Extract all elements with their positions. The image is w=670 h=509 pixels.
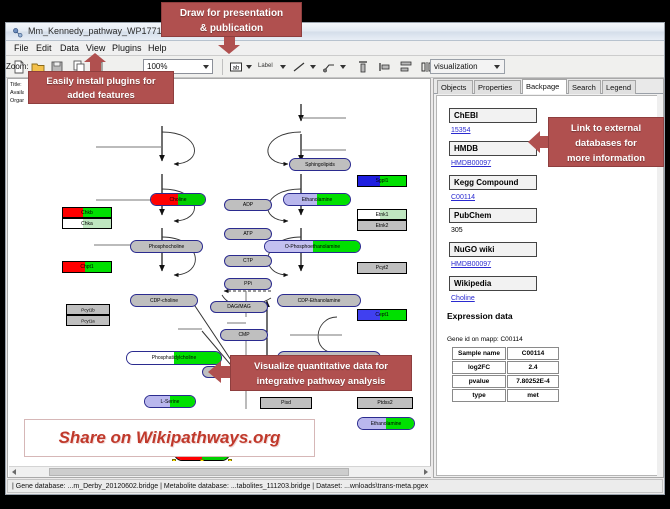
cell-val-pvalue: 7.80252E-4	[507, 375, 559, 388]
gene-id-line: Gene id on mapp: C00114	[447, 336, 523, 343]
cell-key-log2fc: log2FC	[452, 361, 506, 374]
distribute-icon[interactable]	[399, 60, 413, 74]
cell-val-sample-name: C00114	[507, 347, 559, 360]
db-header-chebi: ChEBI	[449, 108, 537, 123]
chevron-down-icon[interactable]	[280, 65, 286, 69]
callout-link: Link to external databases for more info…	[548, 117, 664, 167]
node-label: Cept1	[358, 312, 406, 318]
node-label: ADP	[225, 202, 271, 208]
cell-key-sample-name: Sample name	[452, 347, 506, 360]
node-label: Chka	[63, 221, 111, 227]
zoom-value: 100%	[147, 62, 167, 71]
tab-backpage[interactable]: Backpage	[522, 79, 567, 94]
metabolite-node[interactable]: Sphingolipids	[289, 158, 351, 171]
metabolite-node[interactable]: CTP	[224, 255, 272, 267]
node-label: ATP	[225, 231, 271, 237]
db-header-wikipedia: Wikipedia	[449, 276, 537, 291]
node-label: CTP	[225, 258, 271, 264]
node-label: Etnk2	[358, 223, 406, 229]
canvas-label-availability: Availa	[10, 90, 25, 96]
chevron-down-icon[interactable]	[246, 65, 252, 69]
canvas-horizontal-scrollbar[interactable]	[9, 466, 431, 477]
table-row: Sample name C00114	[452, 347, 559, 360]
node-label: CMP	[221, 332, 267, 338]
table-row: pvalue 7.80252E-4	[452, 375, 559, 388]
metabolite-node[interactable]: DAG/MAG	[210, 301, 268, 313]
cell-key-type: type	[452, 389, 506, 402]
tab-objects[interactable]: Objects	[437, 80, 473, 94]
interaction-icon[interactable]	[322, 60, 336, 74]
gene-product-node[interactable]: Etnk1	[357, 209, 407, 220]
db-link-chebi[interactable]: 15354	[451, 127, 470, 134]
metabolite-node[interactable]: Phosphocholine	[130, 240, 203, 253]
db-header-nugo: NuGO wiki	[449, 242, 537, 257]
canvas-label-title: Title:	[10, 82, 22, 88]
callout-visualize-line1: Visualize quantitative data for	[231, 359, 411, 374]
db-link-hmdb[interactable]: HMDB00097	[451, 160, 491, 167]
visualization-value: visualization	[434, 62, 478, 71]
pathvisio-icon	[12, 27, 23, 38]
metabolite-node[interactable]: PPi	[224, 278, 272, 290]
status-bar: | Gene database: ...m_Derby_20120602.bri…	[7, 479, 663, 493]
callout-draw-line1: Draw for presentation	[162, 6, 301, 21]
line-icon[interactable]	[292, 60, 306, 74]
chevron-down-icon[interactable]	[310, 65, 316, 69]
scroll-right-icon[interactable]	[424, 469, 428, 475]
node-label: Sphingolipids	[290, 162, 350, 168]
cell-val-type: met	[507, 389, 559, 402]
menu-file[interactable]: File	[14, 43, 29, 53]
callout-draw-stem	[224, 37, 235, 45]
svg-text:ab: ab	[233, 66, 240, 72]
gene-product-node[interactable]: Pcyt1a	[66, 315, 110, 326]
pathway-canvas-panel[interactable]: Title: Availa Organ	[7, 78, 431, 478]
pathway-drawing[interactable]: SphingolipidsCholineEthanolamineADPATPPh…	[24, 79, 428, 461]
chevron-down-icon	[203, 65, 209, 69]
visualization-combobox[interactable]: visualization	[430, 59, 505, 74]
callout-plugins-line1: Easily install plugins for	[29, 75, 173, 89]
callout-draw: Draw for presentation & publication	[161, 2, 302, 37]
tab-properties[interactable]: Properties	[474, 80, 521, 94]
node-label: Pisd	[261, 400, 311, 406]
node-label: DAG/MAG	[211, 304, 267, 310]
callout-visualize-line2: integrative pathway analysis	[231, 374, 411, 389]
chevron-down-icon[interactable]	[340, 65, 346, 69]
menu-view[interactable]: View	[86, 43, 105, 53]
expression-data-table: Sample name C00114 log2FC 2.4 pvalue 7.8…	[451, 346, 560, 403]
metabolite-node[interactable]: L-Serine	[144, 395, 196, 408]
callout-link-line2: databases for	[549, 136, 663, 151]
gene-product-node[interactable]: Chpt1	[62, 261, 112, 273]
node-label: Sgpl1	[358, 178, 406, 184]
node-label: Phosphatidylcholine	[127, 355, 221, 361]
menu-plugins[interactable]: Plugins	[112, 43, 142, 53]
node-label: O-Phosphoethanolamine	[265, 244, 360, 250]
db-header-kegg: Kegg Compound	[449, 175, 537, 190]
db-link-nugo[interactable]: HMDB00097	[451, 261, 491, 268]
node-label: Chpt1	[63, 264, 111, 270]
gene-product-node[interactable]: Sgpl1	[357, 175, 407, 187]
callout-link-arrow-icon	[528, 131, 540, 153]
scroll-left-icon[interactable]	[12, 469, 16, 475]
metabolite-node[interactable]: CMP	[220, 329, 268, 341]
metabolite-node[interactable]: Ethanolamine	[357, 417, 415, 430]
metabolite-node[interactable]: Ethanolamine	[283, 193, 351, 206]
expression-data-title: Expression data	[447, 311, 513, 321]
side-panel-tabs: Objects Properties Backpage Search Legen…	[434, 79, 663, 94]
node-label: Pcyt2	[358, 265, 406, 271]
callout-link-line3: more information	[549, 151, 663, 166]
node-label: Pcyt1a	[67, 318, 109, 323]
gene-product-node[interactable]: Chka	[62, 218, 112, 229]
node-label: L-Serine	[145, 399, 195, 405]
callout-plugins-line2: added features	[29, 89, 173, 103]
gene-product-node[interactable]: Pisd	[260, 397, 312, 409]
callout-plugins-stem	[90, 62, 101, 71]
cell-val-log2fc: 2.4	[507, 361, 559, 374]
text-box-icon[interactable]: ab	[229, 60, 243, 74]
selection-handle[interactable]	[200, 459, 204, 461]
metabolite-node[interactable]: ADP	[224, 199, 272, 211]
align-top-icon[interactable]	[356, 60, 370, 74]
gene-product-node[interactable]: Pcyt1b	[66, 304, 110, 315]
node-label: Chkb	[63, 210, 111, 216]
db-value-pubchem: 305	[451, 227, 463, 234]
node-label: Phosphocholine	[131, 244, 202, 250]
node-label: Choline	[151, 197, 205, 203]
chevron-down-icon	[494, 65, 500, 69]
callout-share: Share on Wikipathways.org	[24, 419, 315, 457]
callout-visualize-arrow-icon	[208, 361, 221, 383]
callout-draw-arrow-icon	[218, 45, 240, 54]
node-label: Ptdss2	[358, 400, 412, 406]
metabolite-node[interactable]: Choline	[150, 193, 206, 206]
db-header-pubchem: PubChem	[449, 208, 537, 223]
node-label: PPi	[225, 281, 271, 287]
selection-handle[interactable]	[172, 459, 176, 461]
db-link-kegg[interactable]: C00114	[451, 194, 475, 201]
node-label: Ethanolamine	[358, 421, 414, 427]
gene-product-node[interactable]: Pcyt2	[357, 262, 407, 274]
node-label: CDP-choline	[131, 298, 197, 304]
menu-data[interactable]: Data	[60, 43, 79, 53]
db-header-hmdb: HMDB	[449, 141, 537, 156]
metabolite-node[interactable]: CDP-Ethanolamine	[277, 294, 361, 307]
callout-share-text: Share on Wikipathways.org	[25, 428, 314, 448]
title-bar: Mm_Kennedy_pathway_WP1771_45176.gpml	[6, 23, 664, 41]
db-link-wikipedia[interactable]: Choline	[451, 295, 475, 302]
tab-search[interactable]: Search	[568, 80, 601, 94]
menu-edit[interactable]: Edit	[36, 43, 52, 53]
node-label: Etnk1	[358, 212, 406, 218]
node-label: Pcyt1b	[67, 307, 109, 312]
screenshot-root: Mm_Kennedy_pathway_WP1771_45176.gpml Fil…	[0, 0, 670, 509]
gene-product-node[interactable]: Cept1	[357, 309, 407, 321]
callout-link-line1: Link to external	[549, 121, 663, 136]
canvas-label-organism: Organ	[10, 98, 25, 104]
table-row: log2FC 2.4	[452, 361, 559, 374]
label-tool-text: Label	[258, 63, 273, 69]
scroll-thumb[interactable]	[49, 468, 349, 476]
node-label: Ethanolamine	[284, 197, 350, 203]
gene-product-node[interactable]: Ptdss2	[357, 397, 413, 409]
callout-plugins: Easily install plugins for added feature…	[28, 71, 174, 104]
gene-product-node[interactable]: Chkb	[62, 207, 112, 218]
node-label: CDP-Ethanolamine	[278, 298, 360, 304]
menu-help[interactable]: Help	[148, 43, 167, 53]
align-left-icon[interactable]	[378, 60, 392, 74]
selection-handle[interactable]	[228, 459, 232, 461]
callout-plugins-arrow-icon	[84, 53, 106, 62]
callout-visualize: Visualize quantitative data for integrat…	[230, 355, 412, 391]
toolbar-separator	[222, 59, 223, 75]
cell-key-pvalue: pvalue	[452, 375, 506, 388]
metabolite-node[interactable]: O-Phosphoethanolamine	[264, 240, 361, 253]
callout-draw-line2: & publication	[162, 21, 301, 36]
metabolite-node[interactable]: CDP-choline	[130, 294, 198, 307]
gene-product-node[interactable]: Etnk2	[357, 220, 407, 231]
tab-legend[interactable]: Legend	[602, 80, 636, 94]
table-row: type met	[452, 389, 559, 402]
zoom-label: Zoom:	[6, 62, 29, 71]
metabolite-node[interactable]: ATP	[224, 228, 272, 240]
